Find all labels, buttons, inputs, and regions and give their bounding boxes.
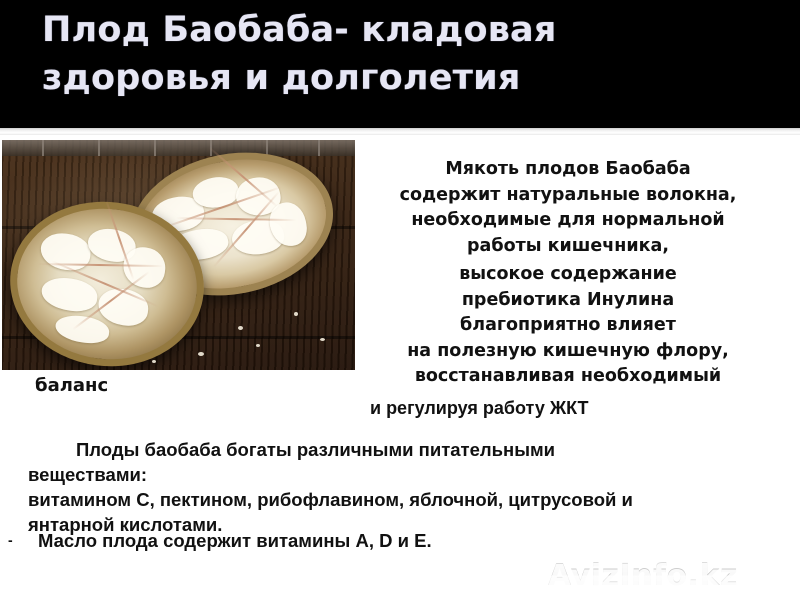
paragraph-gkt: и регулируя работу ЖКТ [370, 396, 770, 420]
title-banner: Плод Баобаба- кладовая здоровья и долгол… [0, 0, 800, 128]
dash-bullet: - [8, 528, 13, 553]
paragraph-fiber: Мякоть плодов Баобаба содержит натуральн… [358, 157, 778, 259]
presentation-slide: Плод Баобаба- кладовая здоровья и долгол… [0, 0, 800, 600]
slide-title: Плод Баобаба- кладовая здоровья и долгол… [42, 6, 762, 102]
baobab-fruit-photo [2, 140, 355, 370]
watermark: AvizInfo.kz [548, 558, 738, 593]
paragraph-oil: Масло плода содержит витамины A, D и E. [38, 528, 678, 553]
label-balance: баланс [35, 374, 108, 398]
banner-divider [0, 128, 800, 135]
paragraph-nutrients: Плоды баобаба богаты различными питатель… [28, 437, 668, 537]
paragraph-inulin: высокое содержание пребиотика Инулина бл… [358, 262, 778, 390]
